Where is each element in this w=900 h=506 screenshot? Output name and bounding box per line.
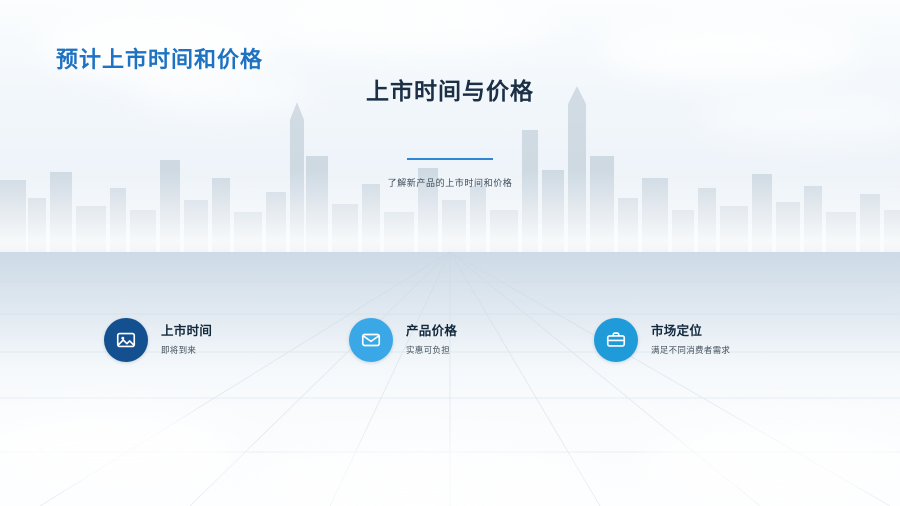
feature-desc: 实惠可负担 bbox=[406, 343, 457, 357]
title-divider bbox=[407, 158, 493, 160]
feature-list: 上市时间 即将到来 产品价格 实惠可负担 bbox=[104, 318, 864, 362]
feature-item[interactable]: 产品价格 实惠可负担 bbox=[349, 318, 594, 362]
image-icon bbox=[104, 318, 148, 362]
briefcase-icon bbox=[594, 318, 638, 362]
feature-item[interactable]: 上市时间 即将到来 bbox=[104, 318, 349, 362]
center-block: 上市时间与价格 了解新产品的上市时间和价格 bbox=[0, 76, 900, 189]
feature-desc: 即将到来 bbox=[161, 343, 212, 357]
feature-desc: 满足不同消费者需求 bbox=[651, 343, 730, 357]
subtitle: 了解新产品的上市时间和价格 bbox=[0, 176, 900, 189]
feature-item[interactable]: 市场定位 满足不同消费者需求 bbox=[594, 318, 839, 362]
main-title: 上市时间与价格 bbox=[0, 76, 900, 106]
feature-title: 产品价格 bbox=[406, 323, 457, 340]
feature-title: 市场定位 bbox=[651, 323, 730, 340]
feature-text: 产品价格 实惠可负担 bbox=[406, 323, 457, 357]
slide: 预计上市时间和价格 上市时间与价格 了解新产品的上市时间和价格 上市时间 即将到… bbox=[0, 0, 900, 506]
feature-text: 市场定位 满足不同消费者需求 bbox=[651, 323, 730, 357]
envelope-icon bbox=[349, 318, 393, 362]
page-title: 预计上市时间和价格 bbox=[56, 42, 263, 74]
feature-title: 上市时间 bbox=[161, 323, 212, 340]
feature-text: 上市时间 即将到来 bbox=[161, 323, 212, 357]
